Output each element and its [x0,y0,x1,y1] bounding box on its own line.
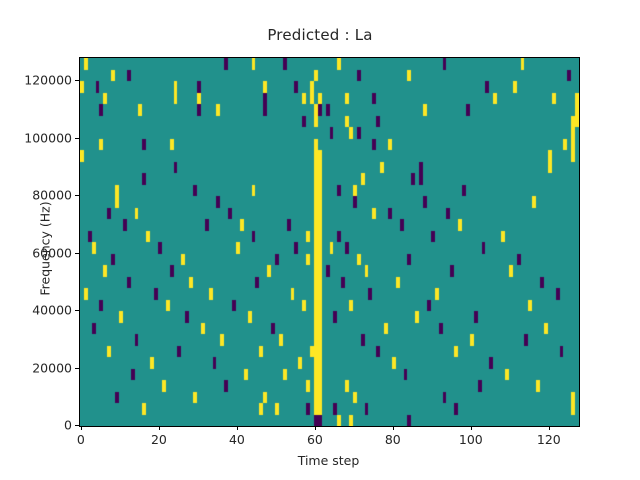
y-tick-mark [75,138,79,139]
y-tick-mark [75,310,79,311]
x-tick-mark [471,426,472,430]
x-axis-label: Time step [79,453,578,468]
matplotlib-figure: Predicted : La 0200004000060000800001000… [0,0,640,480]
x-tick-mark [237,426,238,430]
chart-title: Predicted : La [0,26,640,44]
spectrogram-heatmap [80,58,579,426]
y-tick-mark [75,425,79,426]
x-tick-mark [393,426,394,430]
x-tick-label: 20 [151,432,167,447]
x-tick-label: 60 [307,432,323,447]
y-tick-label: 0 [64,418,72,433]
x-tick-label: 0 [77,432,85,447]
y-axis-label: Frequency (Hz) [38,119,53,379]
x-tick-mark [315,426,316,430]
y-tick-mark [75,80,79,81]
y-tick-label: 120000 [24,73,72,88]
y-tick-mark [75,368,79,369]
heatmap-plot-area [79,57,580,427]
y-tick-mark [75,253,79,254]
y-tick-mark [75,195,79,196]
x-tick-mark [81,426,82,430]
x-tick-label: 100 [459,432,483,447]
x-tick-label: 80 [385,432,401,447]
x-tick-mark [159,426,160,430]
x-tick-label: 40 [229,432,245,447]
x-tick-mark [549,426,550,430]
x-tick-label: 120 [537,432,561,447]
